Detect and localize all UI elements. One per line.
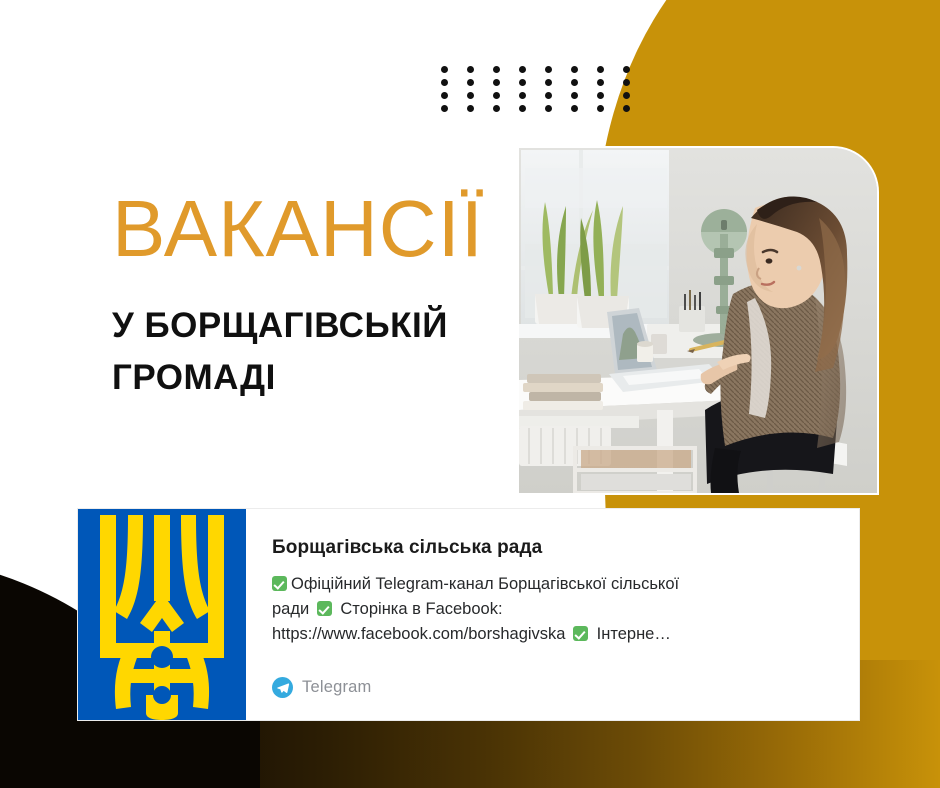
description-line-3-tail: Інтерне…: [592, 625, 671, 643]
dot: [519, 105, 526, 112]
ukrainian-coat-of-arms-icon: [78, 509, 246, 720]
dot: [441, 66, 448, 73]
dot: [545, 66, 552, 73]
dot: [467, 92, 474, 99]
dot: [597, 105, 604, 112]
dot: [441, 92, 448, 99]
description-line-1: Офіційний Telegram-канал Борщагівської с…: [272, 572, 833, 597]
dot: [519, 79, 526, 86]
telegram-icon: [272, 677, 293, 698]
description-line-3-text: https://www.facebook.com/borshagivska: [272, 625, 570, 643]
telegram-card-body: Борщагівська сільська рада Офіційний Tel…: [246, 509, 859, 720]
telegram-card-description: Офіційний Telegram-канал Борщагівської с…: [272, 572, 833, 647]
page-subtitle: У БОРЩАГІВСЬКІЙ ГРОМАДІ: [112, 300, 542, 404]
check-mark-icon: [573, 626, 588, 641]
dot: [545, 92, 552, 99]
dot: [623, 105, 630, 112]
dot: [597, 79, 604, 86]
description-line-2: ради Сторінка в Facebook:: [272, 597, 833, 622]
telegram-link-preview-card[interactable]: Борщагівська сільська рада Офіційний Tel…: [78, 509, 859, 720]
dot: [597, 66, 604, 73]
dot: [545, 79, 552, 86]
dot: [623, 79, 630, 86]
description-line-2-text: ради: [272, 600, 314, 618]
dot: [623, 92, 630, 99]
dot: [519, 92, 526, 99]
dot: [493, 92, 500, 99]
dot: [493, 66, 500, 73]
telegram-source-label: Telegram: [302, 678, 371, 697]
telegram-source-row[interactable]: Telegram: [272, 677, 833, 698]
description-line-2-tail: Сторінка в Facebook:: [336, 600, 503, 618]
office-photo: [519, 148, 877, 493]
dot: [493, 105, 500, 112]
dot-matrix-decoration: [441, 66, 649, 118]
dot: [441, 105, 448, 112]
dot: [493, 79, 500, 86]
dot: [571, 105, 578, 112]
headline-block: ВАКАНСІЇ У БОРЩАГІВСЬКІЙ ГРОМАДІ: [112, 186, 542, 404]
poster-canvas: ВАКАНСІЇ У БОРЩАГІВСЬКІЙ ГРОМАДІ: [0, 0, 940, 788]
dot: [571, 92, 578, 99]
telegram-card-title: Борщагівська сільська рада: [272, 537, 833, 559]
dot: [467, 105, 474, 112]
dot: [467, 66, 474, 73]
dot: [597, 92, 604, 99]
description-line-1-text: Офіційний Telegram-канал Борщагівської с…: [291, 575, 679, 593]
check-mark-icon: [317, 601, 332, 616]
description-line-3: https://www.facebook.com/borshagivska Ін…: [272, 622, 833, 647]
dot: [467, 79, 474, 86]
dot: [571, 79, 578, 86]
dot: [545, 105, 552, 112]
dot: [571, 66, 578, 73]
page-title: ВАКАНСІЇ: [112, 186, 542, 272]
dot: [441, 79, 448, 86]
dot: [519, 66, 526, 73]
check-mark-icon: [272, 576, 287, 591]
dot: [623, 66, 630, 73]
